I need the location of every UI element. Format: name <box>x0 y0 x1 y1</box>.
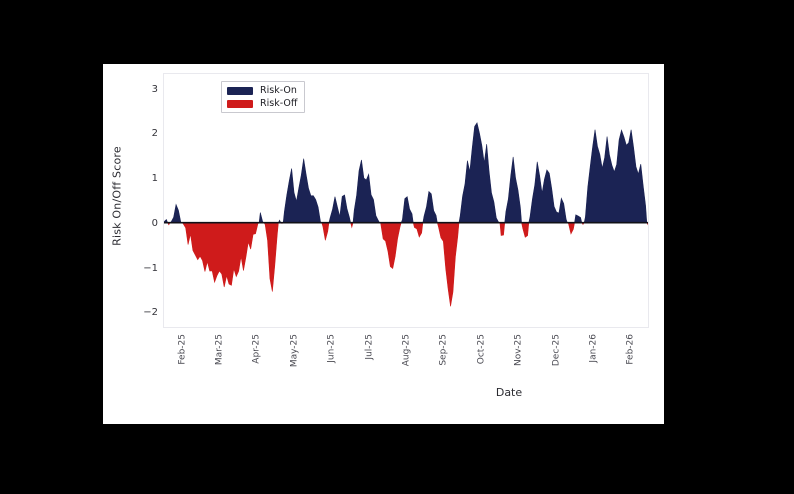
x-tick-label: Apr-25 <box>253 334 262 364</box>
risk-off-area <box>168 223 648 307</box>
x-tick-label: Jul-25 <box>365 334 374 360</box>
x-tick-label: Oct-25 <box>477 334 486 364</box>
legend-swatch-risk-on <box>227 87 253 95</box>
risk-on-area <box>164 123 647 223</box>
chart-legend: Risk-On Risk-Off <box>221 81 305 113</box>
y-tick-label: −2 <box>143 308 158 318</box>
x-tick-label: Feb-26 <box>627 334 636 365</box>
screenshot-canvas: Risk On/Off Score 3210−1−2 Feb-25Mar-25A… <box>0 0 794 494</box>
y-tick-label: 2 <box>152 129 158 139</box>
legend-item-risk-off: Risk-Off <box>227 98 297 109</box>
x-tick-label: Sep-25 <box>440 334 449 366</box>
y-axis-label: Risk On/Off Score <box>111 146 124 246</box>
x-tick-label: Jan-26 <box>589 334 598 363</box>
y-tick-label: 1 <box>152 174 158 184</box>
chart-figure: Risk On/Off Score 3210−1−2 Feb-25Mar-25A… <box>103 64 664 424</box>
y-tick-label: 3 <box>152 85 158 95</box>
x-tick-label: Nov-25 <box>515 334 524 366</box>
legend-label-risk-off: Risk-Off <box>260 98 297 109</box>
x-tick-label: Mar-25 <box>216 334 225 365</box>
y-tick-label: −1 <box>143 264 158 274</box>
x-tick-label: Feb-25 <box>178 334 187 365</box>
x-axis-label: Date <box>266 386 752 399</box>
x-tick-label: Jun-25 <box>328 334 337 363</box>
x-tick-label: Dec-25 <box>552 334 561 366</box>
legend-item-risk-on: Risk-On <box>227 85 297 96</box>
legend-swatch-risk-off <box>227 100 253 108</box>
y-tick-label: 0 <box>152 219 158 229</box>
x-tick-label: May-25 <box>290 334 299 367</box>
x-tick-label: Aug-25 <box>403 334 412 366</box>
plot-area: 3210−1−2 Feb-25Mar-25Apr-25May-25Jun-25J… <box>163 73 649 328</box>
legend-label-risk-on: Risk-On <box>260 85 297 96</box>
